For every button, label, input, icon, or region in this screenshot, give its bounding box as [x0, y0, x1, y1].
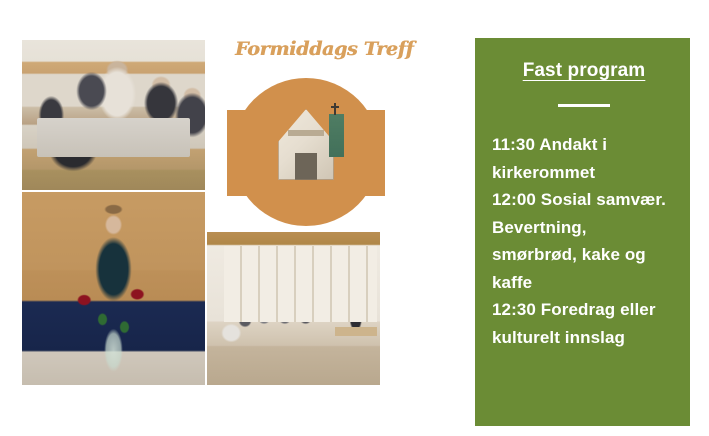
slide-canvas: Formiddags Treff Fast program 11:30 Anda… — [0, 0, 709, 436]
program-schedule-text: 11:30 Andakt i kirkerommet 12:00 Sosial … — [492, 131, 676, 351]
cross-icon — [334, 103, 336, 115]
program-divider-rule — [558, 104, 610, 107]
church-gable — [278, 109, 333, 180]
photo-woman-speaking-with-microphone — [22, 192, 205, 385]
lecture-wall-panels — [224, 246, 376, 323]
program-heading: Fast program — [492, 60, 676, 82]
church-tower — [329, 114, 344, 157]
photo-seniors-around-table — [22, 40, 205, 190]
photo-church-circle-frame — [232, 78, 380, 226]
collage-title: Formiddags Treff — [235, 38, 403, 60]
fast-program-panel: Fast program 11:30 Andakt i kirkerommet … — [475, 38, 690, 426]
photo-collage: Formiddags Treff — [22, 40, 380, 385]
photo-church-building — [243, 89, 369, 215]
photo-lecture-hall-audience — [207, 232, 380, 385]
lecture-podium-table — [335, 327, 377, 336]
